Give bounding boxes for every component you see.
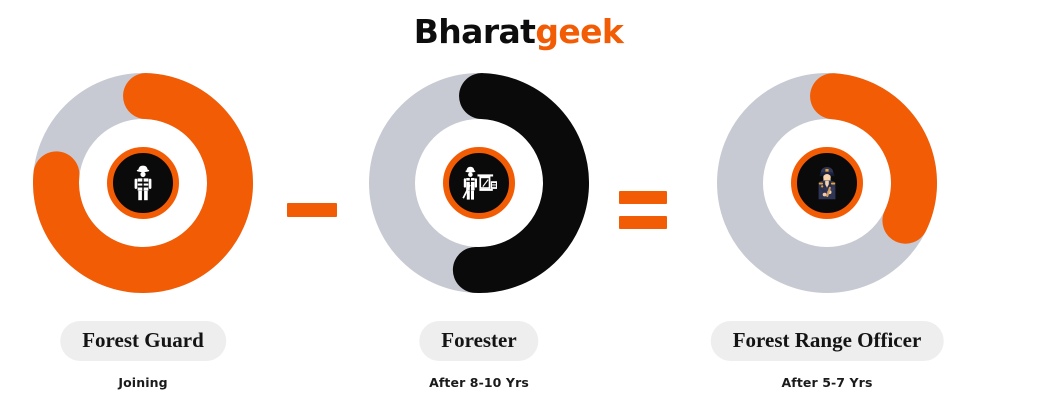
donut-chart-forester <box>369 73 589 293</box>
badge-forest-guard <box>107 147 179 219</box>
donut-chart-forest-guard <box>33 73 253 293</box>
node-label-forest-guard: Forest Guard <box>60 321 226 361</box>
minus-bar <box>287 203 337 217</box>
equals-bar-top <box>619 191 667 204</box>
minus-sign-icon <box>277 62 347 420</box>
node-label-forest-range-officer: Forest Range Officer <box>711 321 944 361</box>
career-node-forest-range-officer[interactable]: Forest Range Officer After 5-7 Yrs <box>697 62 957 420</box>
node-sublabel-forest-guard: Joining <box>118 375 167 390</box>
brand-logo-part-1: Bharat <box>414 12 536 51</box>
career-node-forest-guard[interactable]: Forest Guard Joining <box>13 62 273 420</box>
career-progression-diagram: Forest Guard Joining <box>0 62 1037 420</box>
node-sublabel-forester: After 8-10 Yrs <box>429 375 529 390</box>
node-sublabel-forest-range-officer: After 5-7 Yrs <box>782 375 873 390</box>
equals-bar-bottom <box>619 216 667 229</box>
brand-header: Bharatgeek <box>0 0 1037 62</box>
badge-forester <box>443 147 515 219</box>
node-label-forester: Forester <box>419 321 538 361</box>
forester-icon <box>456 161 502 205</box>
forest-range-officer-icon <box>805 161 849 205</box>
brand-logo-part-2: geek <box>535 12 623 51</box>
brand-logo: Bharatgeek <box>414 15 624 48</box>
donut-chart-forest-range-officer <box>717 73 937 293</box>
badge-forest-range-officer <box>791 147 863 219</box>
career-node-forester[interactable]: Forester After 8-10 Yrs <box>349 62 609 420</box>
equals-sign-icon <box>608 62 678 420</box>
forest-guard-icon <box>121 161 165 205</box>
